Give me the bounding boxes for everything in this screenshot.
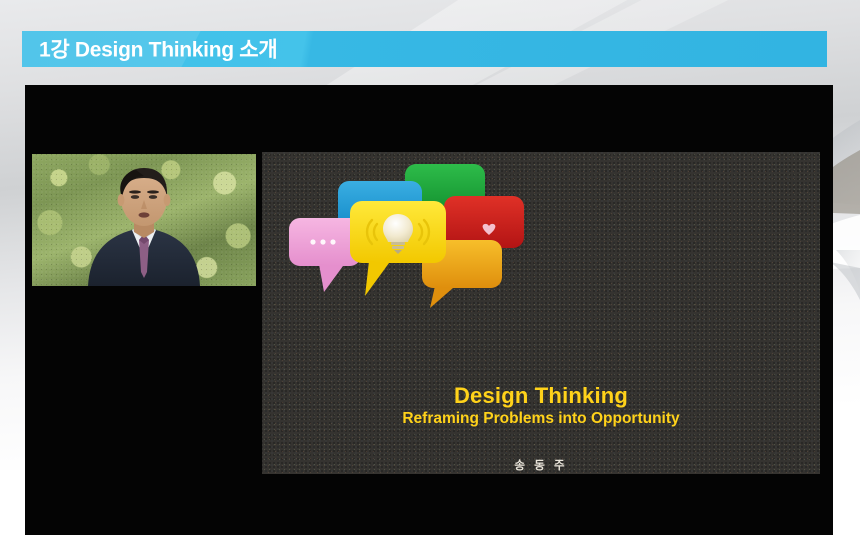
speech-bubbles-illustration <box>289 162 549 312</box>
presenter-figure <box>32 154 256 286</box>
presenter-webcam[interactable] <box>32 154 256 286</box>
slide-title-bar: 1강 Design Thinking 소개 <box>22 31 827 67</box>
video-player-area[interactable]: Design Thinking Reframing Problems into … <box>25 85 833 535</box>
slide-main-title: Design Thinking <box>262 383 820 409</box>
credit-author-name: 송 동 주 <box>262 457 820 473</box>
page-title: 1강 Design Thinking 소개 <box>39 33 277 63</box>
slide-credits: 송 동 주 영남대학교 Center for Design Thinking R… <box>262 457 820 474</box>
slide-subtitle: Reframing Problems into Opportunity <box>262 410 820 428</box>
presentation-slide: Design Thinking Reframing Problems into … <box>262 152 820 474</box>
